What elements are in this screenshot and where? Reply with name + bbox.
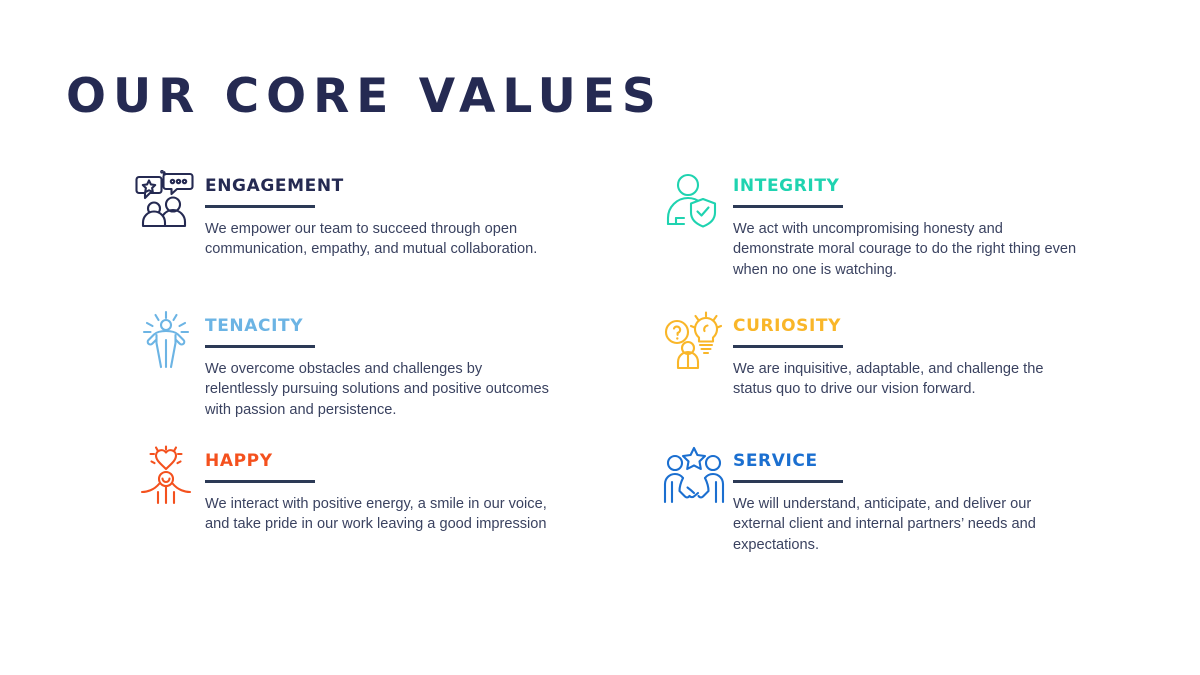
value-underline-rule bbox=[733, 480, 843, 483]
value-description: We overcome obstacles and challenges by … bbox=[205, 359, 550, 421]
value-body: SERVICE We will understand, anticipate, … bbox=[733, 443, 1083, 556]
slide-canvas: OUR CORE VALUES bbox=[0, 0, 1200, 675]
people-speech-bubbles-icon bbox=[135, 170, 197, 230]
value-description: We empower our team to succeed through o… bbox=[205, 219, 550, 261]
value-body: CURIOSITY We are inquisitive, adaptable,… bbox=[733, 308, 1083, 400]
value-body: HAPPY We interact with positive energy, … bbox=[205, 443, 555, 535]
value-heading: INTEGRITY bbox=[733, 168, 1083, 196]
value-underline-rule bbox=[205, 345, 315, 348]
value-item-engagement[interactable]: ENGAGEMENT We empower our team to succee… bbox=[135, 168, 555, 260]
value-heading: SERVICE bbox=[733, 443, 1083, 471]
value-description: We interact with positive energy, a smil… bbox=[205, 494, 550, 536]
value-heading: ENGAGEMENT bbox=[205, 168, 555, 196]
value-body: TENACITY We overcome obstacles and chall… bbox=[205, 308, 555, 421]
value-heading: CURIOSITY bbox=[733, 308, 1083, 336]
value-item-curiosity[interactable]: CURIOSITY We are inquisitive, adaptable,… bbox=[663, 308, 1083, 400]
value-heading: HAPPY bbox=[205, 443, 555, 471]
standing-person-rays-icon bbox=[135, 310, 197, 370]
value-body: INTEGRITY We act with uncompromising hon… bbox=[733, 168, 1083, 281]
handshake-star-icon bbox=[663, 445, 725, 505]
value-item-service[interactable]: SERVICE We will understand, anticipate, … bbox=[663, 443, 1083, 556]
page-title: OUR CORE VALUES bbox=[66, 73, 663, 120]
value-item-tenacity[interactable]: TENACITY We overcome obstacles and chall… bbox=[135, 308, 555, 421]
value-item-happy[interactable]: HAPPY We interact with positive energy, … bbox=[135, 443, 555, 535]
person-shield-check-icon bbox=[663, 170, 725, 230]
value-body: ENGAGEMENT We empower our team to succee… bbox=[205, 168, 555, 260]
person-arms-raised-heart-icon bbox=[135, 445, 197, 505]
value-underline-rule bbox=[733, 345, 843, 348]
value-description: We will understand, anticipate, and deli… bbox=[733, 494, 1078, 556]
question-person-lightbulb-icon bbox=[663, 310, 725, 370]
value-heading: TENACITY bbox=[205, 308, 555, 336]
value-item-integrity[interactable]: INTEGRITY We act with uncompromising hon… bbox=[663, 168, 1083, 281]
value-description: We act with uncompromising honesty and d… bbox=[733, 219, 1078, 281]
value-underline-rule bbox=[733, 205, 843, 208]
value-underline-rule bbox=[205, 480, 315, 483]
value-underline-rule bbox=[205, 205, 315, 208]
value-description: We are inquisitive, adaptable, and chall… bbox=[733, 359, 1078, 401]
